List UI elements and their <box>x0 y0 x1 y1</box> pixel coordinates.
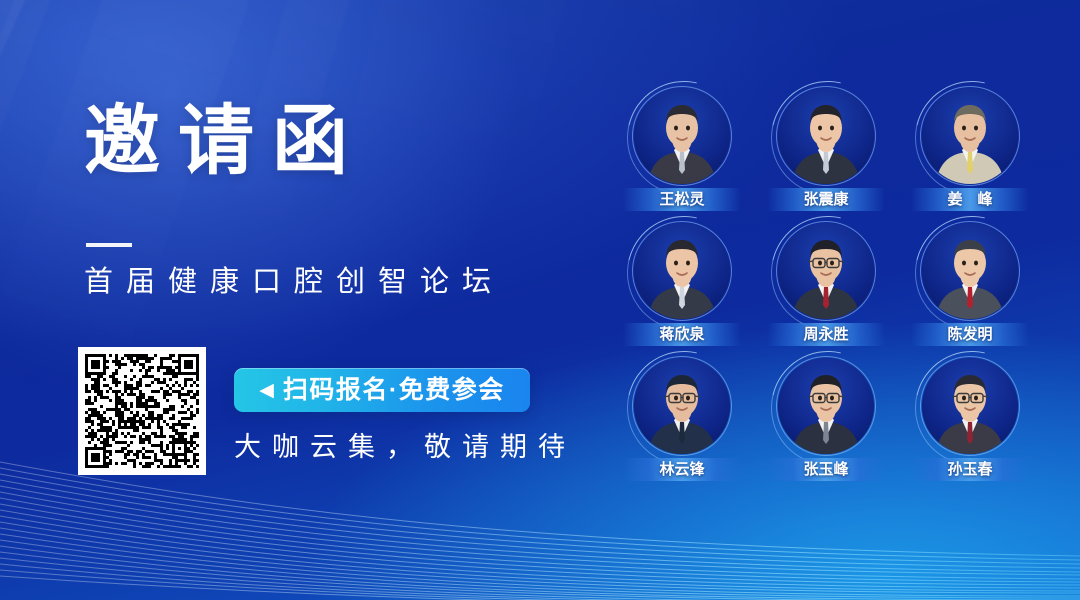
speaker-name: 张震康 <box>803 192 848 207</box>
invitation-poster: 邀请函 首届健康口腔创智论坛 ◀ 扫码报名·免费参会 大咖云集，敬请期待 王松灵… <box>0 0 1080 600</box>
speaker-nameplate: 孙玉春 <box>911 458 1029 481</box>
speaker-card[interactable]: 陈发明 <box>900 221 1040 346</box>
speaker-nameplate: 张震康 <box>767 188 885 211</box>
register-cta-button[interactable]: ◀ 扫码报名·免费参会 <box>234 368 530 412</box>
speaker-card[interactable]: 林云锋 <box>612 356 752 481</box>
left-content-column: 邀请函 首届健康口腔创智论坛 ◀ 扫码报名·免费参会 大咖云集，敬请期待 <box>0 0 600 600</box>
qr-code[interactable] <box>78 347 206 475</box>
avatar <box>778 88 874 184</box>
speaker-card[interactable]: 张玉峰 <box>756 356 896 481</box>
speaker-name: 蒋欣泉 <box>659 327 704 342</box>
register-cta-label: 扫码报名·免费参会 <box>283 378 505 403</box>
speaker-card[interactable]: 周永胜 <box>756 221 896 346</box>
poster-title: 邀请函 <box>84 104 366 180</box>
avatar <box>922 88 1018 184</box>
speaker-card[interactable]: 姜 峰 <box>900 86 1040 211</box>
speaker-name: 孙玉春 <box>947 462 992 477</box>
speaker-name: 王松灵 <box>659 192 704 207</box>
poster-tagline: 大咖云集，敬请期待 <box>234 434 576 461</box>
poster-subtitle: 首届健康口腔创智论坛 <box>84 268 504 297</box>
speaker-nameplate: 林云锋 <box>623 458 741 481</box>
speaker-nameplate: 张玉峰 <box>767 458 885 481</box>
avatar <box>922 358 1018 454</box>
speaker-card[interactable]: 张震康 <box>756 86 896 211</box>
speaker-name: 姜 峰 <box>947 192 992 207</box>
speaker-nameplate: 陈发明 <box>911 323 1029 346</box>
speaker-name: 陈发明 <box>947 327 992 342</box>
avatar <box>778 358 874 454</box>
avatar <box>634 358 730 454</box>
avatar <box>634 88 730 184</box>
speaker-card[interactable]: 王松灵 <box>612 86 752 211</box>
title-divider <box>86 243 132 247</box>
speaker-name: 周永胜 <box>803 327 848 342</box>
speaker-nameplate: 周永胜 <box>767 323 885 346</box>
speaker-name: 张玉峰 <box>803 462 848 477</box>
speaker-nameplate: 王松灵 <box>623 188 741 211</box>
speaker-card[interactable]: 蒋欣泉 <box>612 221 752 346</box>
speaker-card[interactable]: 孙玉春 <box>900 356 1040 481</box>
speaker-grid: 王松灵张震康姜 峰蒋欣泉周永胜陈发明林云锋张玉峰孙玉春 <box>612 86 1032 481</box>
avatar <box>922 223 1018 319</box>
speaker-nameplate: 姜 峰 <box>911 188 1029 211</box>
left-arrow-icon: ◀ <box>259 381 274 400</box>
speaker-name: 林云锋 <box>659 462 704 477</box>
avatar <box>778 223 874 319</box>
speaker-nameplate: 蒋欣泉 <box>623 323 741 346</box>
avatar <box>634 223 730 319</box>
